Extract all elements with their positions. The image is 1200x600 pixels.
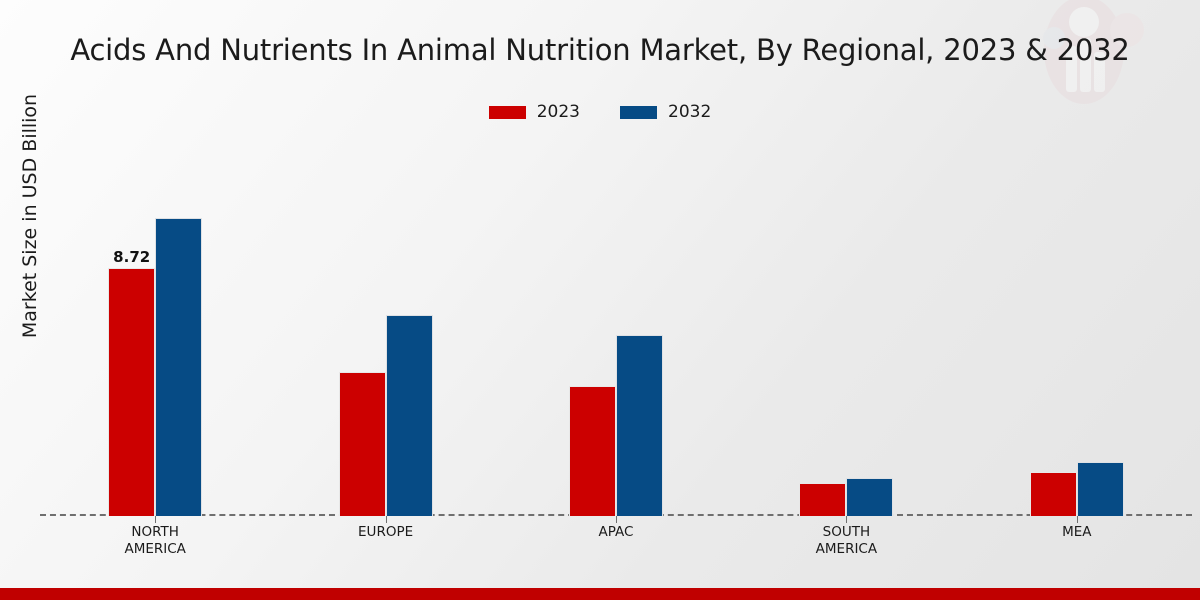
bar-value-label: 8.72: [113, 248, 150, 266]
footer-strip: [0, 588, 1200, 600]
plot-area: 8.72NORTH AMERICAEUROPEAPACSOUTH AMERICA…: [40, 140, 1192, 516]
bar-2032-3[interactable]: [616, 335, 663, 516]
bar-2032-5[interactable]: [1077, 462, 1124, 516]
bar-group: [339, 140, 433, 516]
bar-2023-3[interactable]: [569, 386, 616, 516]
bar-2023-5[interactable]: [1030, 472, 1077, 516]
bars-row: [799, 140, 893, 516]
bar-2032-4[interactable]: [846, 478, 893, 516]
bars-row: [339, 140, 433, 516]
x-axis-tick: [616, 516, 617, 523]
y-axis-title: Market Size in USD Billion: [19, 36, 41, 396]
category-label: EUROPE: [270, 524, 500, 541]
x-axis-tick: [155, 516, 156, 523]
chart-container: Acids And Nutrients In Animal Nutrition …: [0, 0, 1200, 600]
legend-label-2023: 2023: [537, 104, 580, 121]
x-axis-tick: [846, 516, 847, 523]
bars-row: [569, 140, 663, 516]
chart-legend: 2023 2032: [0, 104, 1200, 121]
category-label: APAC: [501, 524, 731, 541]
legend-item-2032[interactable]: 2032: [620, 104, 711, 121]
legend-item-2023[interactable]: 2023: [489, 104, 580, 121]
category-label: MEA: [962, 524, 1192, 541]
bars-row: [1030, 140, 1124, 516]
chart-title: Acids And Nutrients In Animal Nutrition …: [0, 33, 1200, 67]
category-label: SOUTH AMERICA: [731, 524, 961, 558]
bar-2023-4[interactable]: [799, 483, 846, 516]
bar-2023-1[interactable]: 8.72: [108, 268, 155, 516]
bar-2032-2[interactable]: [386, 315, 433, 516]
bar-group: 8.72: [108, 140, 202, 516]
x-axis-tick: [386, 516, 387, 523]
bars-row: 8.72: [108, 140, 202, 516]
bar-group: [569, 140, 663, 516]
bar-2023-2[interactable]: [339, 372, 386, 516]
x-axis-tick: [1077, 516, 1078, 523]
bar-group: [1030, 140, 1124, 516]
legend-label-2032: 2032: [668, 104, 711, 121]
bar-group: [799, 140, 893, 516]
legend-swatch-2023: [489, 106, 526, 119]
category-label: NORTH AMERICA: [40, 524, 270, 558]
legend-swatch-2032: [620, 106, 657, 119]
bar-2032-1[interactable]: [155, 218, 202, 516]
